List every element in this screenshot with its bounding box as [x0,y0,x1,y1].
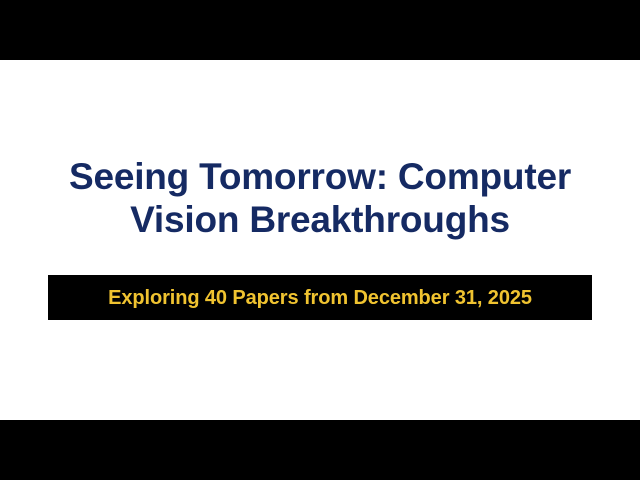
slide-subtitle-text: Exploring 40 Papers from December 31, 20… [108,287,532,309]
slide-canvas: Seeing Tomorrow: Computer Vision Breakth… [0,60,640,420]
letterbox-bar-bottom [0,420,640,480]
slide-title-line-1: Seeing Tomorrow: Computer [0,155,640,198]
slide-title-line-2: Vision Breakthroughs [0,198,640,241]
slide-subtitle-banner: Exploring 40 Papers from December 31, 20… [48,275,592,320]
letterbox-bar-top [0,0,640,60]
slide-title: Seeing Tomorrow: Computer Vision Breakth… [0,155,640,241]
video-slide-frame: Seeing Tomorrow: Computer Vision Breakth… [0,0,640,480]
